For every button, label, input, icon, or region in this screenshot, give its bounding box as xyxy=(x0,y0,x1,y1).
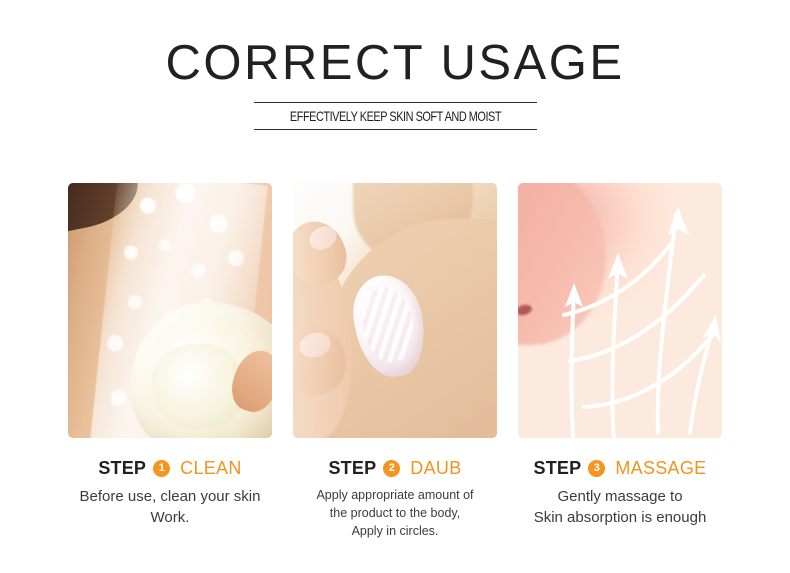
step-heading-2: STEP 2 DAUB xyxy=(328,458,461,479)
description-line: Apply in circles. xyxy=(316,522,473,540)
step-column-3: STEP 3 MASSAGE Gently massage to Skin ab… xyxy=(518,183,722,540)
description-line: Gently massage to xyxy=(534,486,707,507)
description-line: Work. xyxy=(80,507,261,528)
step-column-1: STEP 1 CLEAN Before use, clean your skin… xyxy=(68,183,272,540)
step-name: CLEAN xyxy=(180,458,242,479)
step-number-badge: 1 xyxy=(153,460,170,477)
step-description-2: Apply appropriate amount of the product … xyxy=(316,486,473,540)
massage-arrows-overlay xyxy=(518,183,722,438)
header: CORRECT USAGE EFFECTIVELY KEEP SKIN SOFT… xyxy=(0,0,790,130)
step-label: STEP xyxy=(98,458,146,479)
sudsy-shoulder-with-sponge-photo xyxy=(68,183,272,438)
step-heading-3: STEP 3 MASSAGE xyxy=(534,458,707,479)
step-description-3: Gently massage to Skin absorption is eno… xyxy=(534,486,707,528)
subtitle-block: EFFECTIVELY KEEP SKIN SOFT AND MOIST xyxy=(254,102,537,130)
loofah-sponge-highlight xyxy=(152,344,244,430)
description-line: Before use, clean your skin xyxy=(80,486,261,507)
page-subtitle: EFFECTIVELY KEEP SKIN SOFT AND MOIST xyxy=(285,103,506,129)
step-label: STEP xyxy=(534,458,582,479)
step-name: DAUB xyxy=(410,458,461,479)
description-line: Skin absorption is enough xyxy=(534,507,707,528)
massage-direction-arrows-photo xyxy=(518,183,722,438)
divider-bottom xyxy=(254,129,537,130)
step-column-2: STEP 2 DAUB Apply appropriate amount of … xyxy=(293,183,497,540)
description-line: the product to the body, xyxy=(316,504,473,522)
step-number-badge: 3 xyxy=(588,460,605,477)
step-name: MASSAGE xyxy=(615,458,706,479)
step-description-1: Before use, clean your skin Work. xyxy=(80,486,261,528)
page-title: CORRECT USAGE xyxy=(0,0,790,90)
steps-row: STEP 1 CLEAN Before use, clean your skin… xyxy=(0,183,790,540)
description-line: Apply appropriate amount of xyxy=(316,486,473,504)
step-heading-1: STEP 1 CLEAN xyxy=(98,458,241,479)
cream-swatch-on-shoulder-photo xyxy=(293,183,497,438)
step-label: STEP xyxy=(328,458,376,479)
step-number-badge: 2 xyxy=(383,460,400,477)
